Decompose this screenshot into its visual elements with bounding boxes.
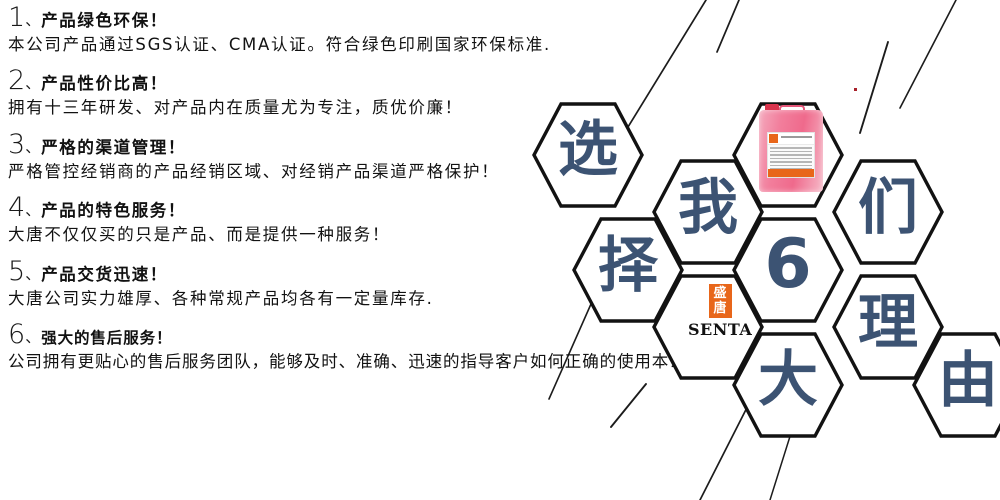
reason-title: 产品绿色环保！ bbox=[41, 13, 168, 30]
reason-detail: 本公司产品通过SGS认证、CMA认证。符合绿色印刷国家环保标准. bbox=[8, 36, 668, 55]
list-item: 2 、 产品性价比高！ 拥有十三年研发、对产品内在质量尤为专注，质优价廉！ bbox=[8, 67, 668, 118]
reason-title: 强大的售后服务！ bbox=[41, 331, 172, 347]
reason-heading: 1 、 产品绿色环保！ bbox=[8, 4, 668, 31]
hex-label-wo[interactable]: 我 bbox=[654, 178, 762, 238]
list-item: 6 、 强大的售后服务！ 公司拥有更贴心的售后服务团队，能够及时、准确、迅速的指… bbox=[8, 321, 668, 372]
reason-separator: 、 bbox=[25, 330, 40, 345]
reason-separator: 、 bbox=[25, 140, 40, 155]
reason-title: 产品的特色服务！ bbox=[41, 203, 186, 220]
reason-number: 5 bbox=[8, 258, 25, 285]
reason-heading: 5 、 产品交货迅速！ bbox=[8, 258, 668, 285]
product-image-jerry-can[interactable] bbox=[759, 104, 823, 192]
logo-char-tang: 唐 bbox=[711, 301, 730, 316]
reason-detail: 大唐公司实力雄厚、各种常规产品均各有一定量库存. bbox=[8, 290, 668, 309]
reason-heading: 2 、 产品性价比高！ bbox=[8, 67, 668, 94]
reason-separator: 、 bbox=[25, 203, 40, 218]
hex-label-li[interactable]: 理 bbox=[834, 293, 942, 353]
reason-title: 产品交货迅速！ bbox=[41, 267, 168, 284]
label-footer-bar bbox=[768, 169, 814, 177]
reason-separator: 、 bbox=[25, 76, 40, 91]
decorative-red-speck bbox=[854, 88, 857, 91]
reason-detail: 公司拥有更贴心的售后服务团队，能够及时、准确、迅速的指导客户如何正确的使用本公司… bbox=[8, 353, 668, 372]
hex-label-men[interactable]: 们 bbox=[834, 178, 942, 238]
reason-separator: 、 bbox=[25, 267, 40, 282]
reason-number: 2 bbox=[8, 67, 25, 94]
list-item: 1 、 产品绿色环保！ 本公司产品通过SGS认证、CMA认证。符合绿色印刷国家环… bbox=[8, 4, 668, 55]
hex-label-you[interactable]: 由 bbox=[914, 351, 1000, 411]
logo-wordmark: SENTA bbox=[688, 320, 752, 339]
reason-detail: 大唐不仅仅买的只是产品、而是提供一种服务！ bbox=[8, 226, 668, 245]
logo-seal-mark: 盛 唐 bbox=[709, 284, 732, 318]
reason-separator: 、 bbox=[25, 13, 40, 28]
reason-number: 4 bbox=[8, 194, 25, 221]
reason-number: 3 bbox=[8, 131, 25, 158]
list-item: 5 、 产品交货迅速！ 大唐公司实力雄厚、各种常规产品均各有一定量库存. bbox=[8, 258, 668, 309]
hex-label-xuan[interactable]: 选 bbox=[534, 120, 642, 180]
promo-banner: 1 、 产品绿色环保！ 本公司产品通过SGS认证、CMA认证。符合绿色印刷国家环… bbox=[0, 0, 1000, 500]
can-label bbox=[767, 132, 815, 178]
reason-heading: 6 、 强大的售后服务！ bbox=[8, 321, 668, 348]
reason-title: 严格的渠道管理！ bbox=[41, 140, 186, 157]
logo-char-sheng: 盛 bbox=[711, 286, 730, 301]
reasons-list: 1 、 产品绿色环保！ 本公司产品通过SGS认证、CMA认证。符合绿色印刷国家环… bbox=[8, 4, 668, 385]
label-header bbox=[768, 133, 814, 145]
hex-label-ze[interactable]: 择 bbox=[574, 236, 682, 296]
reason-number: 6 bbox=[8, 321, 25, 348]
reason-number: 1 bbox=[8, 4, 25, 31]
list-item: 4 、 产品的特色服务！ 大唐不仅仅买的只是产品、而是提供一种服务！ bbox=[8, 194, 668, 245]
reason-title: 产品性价比高！ bbox=[41, 76, 168, 93]
hex-label-da[interactable]: 大 bbox=[734, 350, 842, 410]
brand-logo[interactable]: 盛 唐 SENTA bbox=[688, 284, 752, 339]
reason-heading: 4 、 产品的特色服务！ bbox=[8, 194, 668, 221]
